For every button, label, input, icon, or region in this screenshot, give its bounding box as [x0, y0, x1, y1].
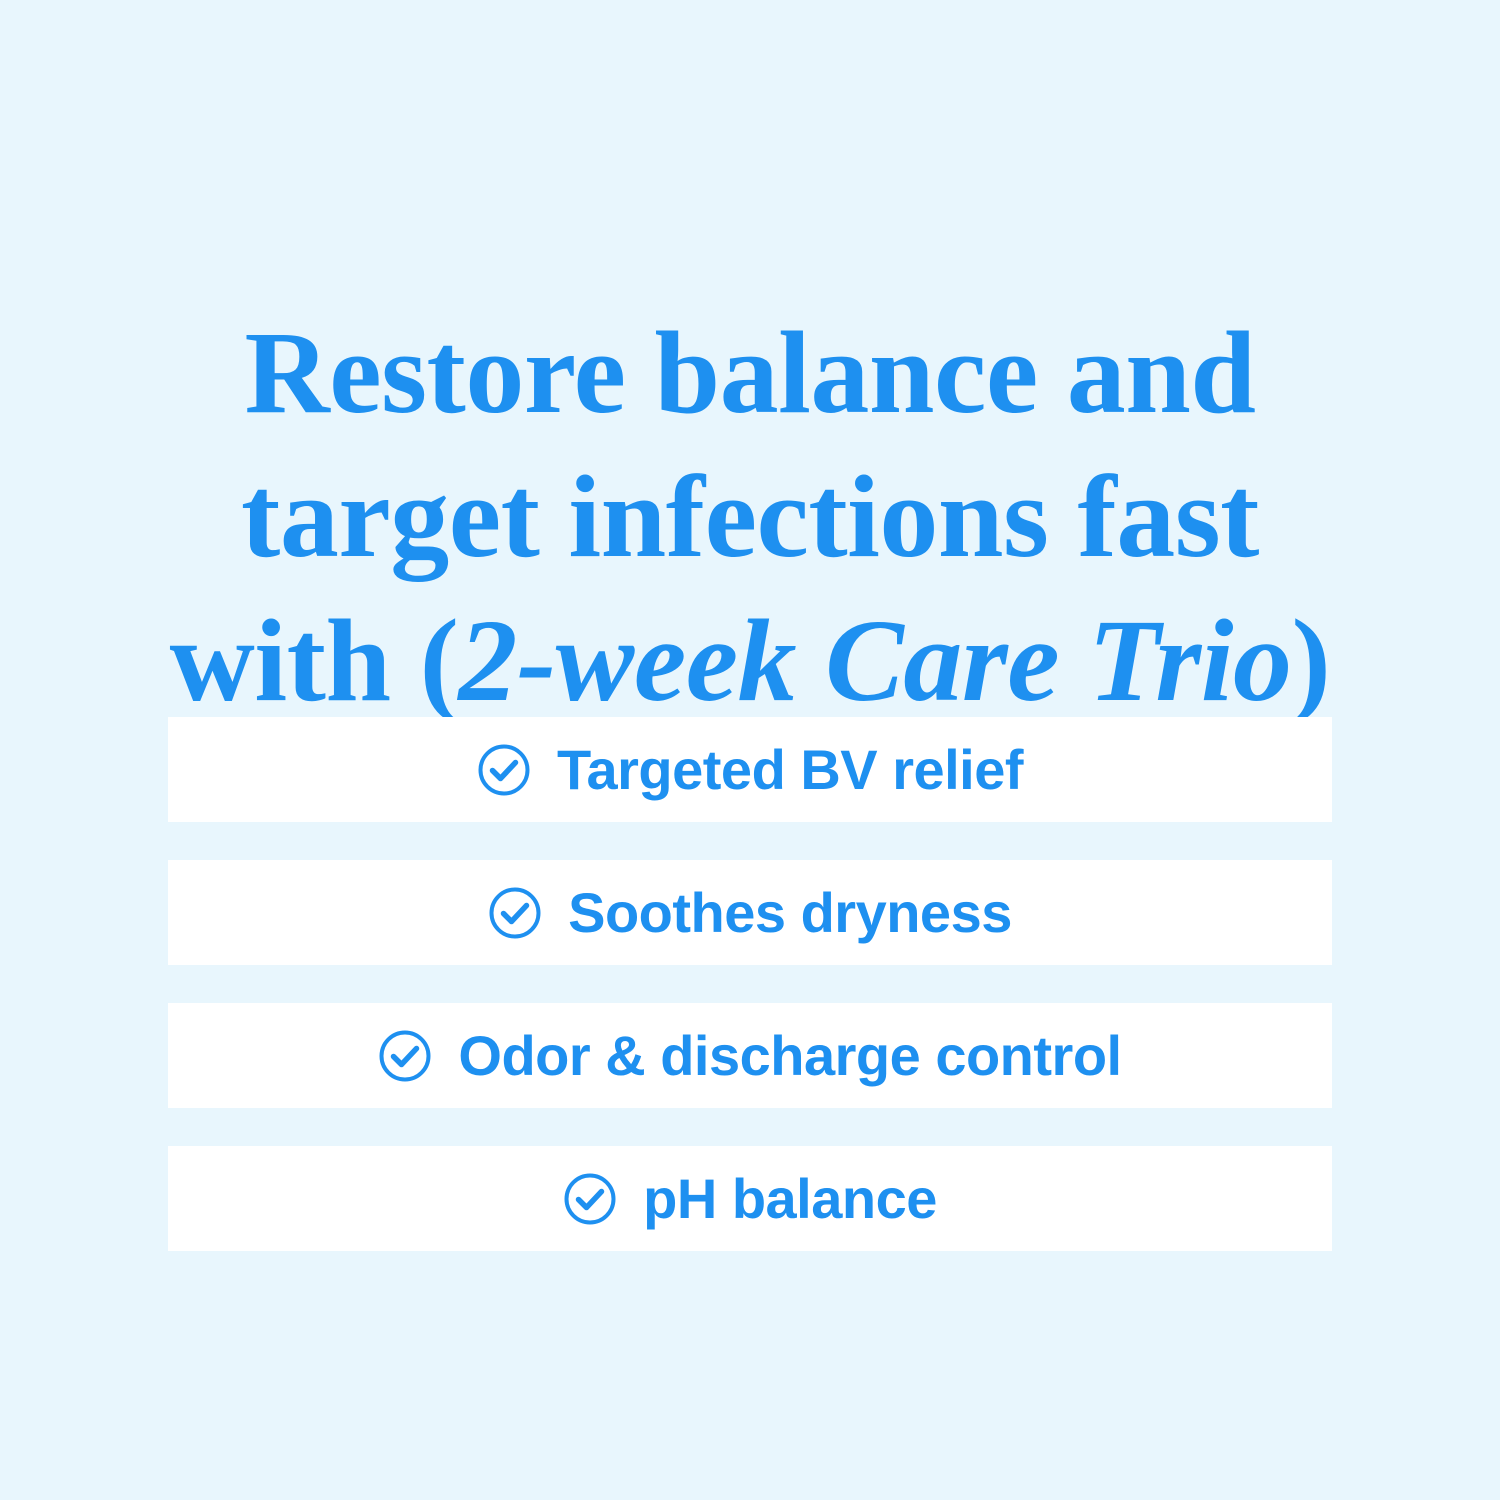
benefit-label: Soothes dryness	[568, 885, 1012, 941]
check-circle-icon	[488, 886, 542, 940]
list-item: Soothes dryness	[168, 860, 1332, 965]
headline-line-3-prefix: with	[170, 595, 420, 726]
headline-emphasis: 2-week Care Trio	[458, 595, 1291, 726]
headline-line-1: Restore balance and	[245, 307, 1256, 438]
page-title: Restore balance and target infections fa…	[150, 301, 1350, 733]
benefit-content: Odor & discharge control	[378, 1028, 1121, 1084]
check-circle-icon	[477, 743, 531, 797]
check-circle-icon	[378, 1029, 432, 1083]
promo-banner: Restore balance and target infections fa…	[0, 0, 1500, 1500]
headline-close-paren: )	[1292, 595, 1331, 726]
benefit-content: Soothes dryness	[488, 885, 1012, 941]
benefit-label: Odor & discharge control	[458, 1028, 1121, 1084]
headline-line-2: target infections fast	[241, 451, 1259, 582]
benefit-label: Targeted BV relief	[557, 742, 1023, 798]
benefit-label: pH balance	[643, 1171, 937, 1227]
list-item: Targeted BV relief	[168, 717, 1332, 822]
list-item: pH balance	[168, 1146, 1332, 1251]
benefit-content: Targeted BV relief	[477, 742, 1023, 798]
check-circle-icon	[563, 1172, 617, 1226]
list-item: Odor & discharge control	[168, 1003, 1332, 1108]
benefit-list: Targeted BV relief Soothes dryness Odor …	[168, 717, 1332, 1251]
benefit-content: pH balance	[563, 1171, 937, 1227]
headline-open-paren: (	[420, 595, 459, 726]
